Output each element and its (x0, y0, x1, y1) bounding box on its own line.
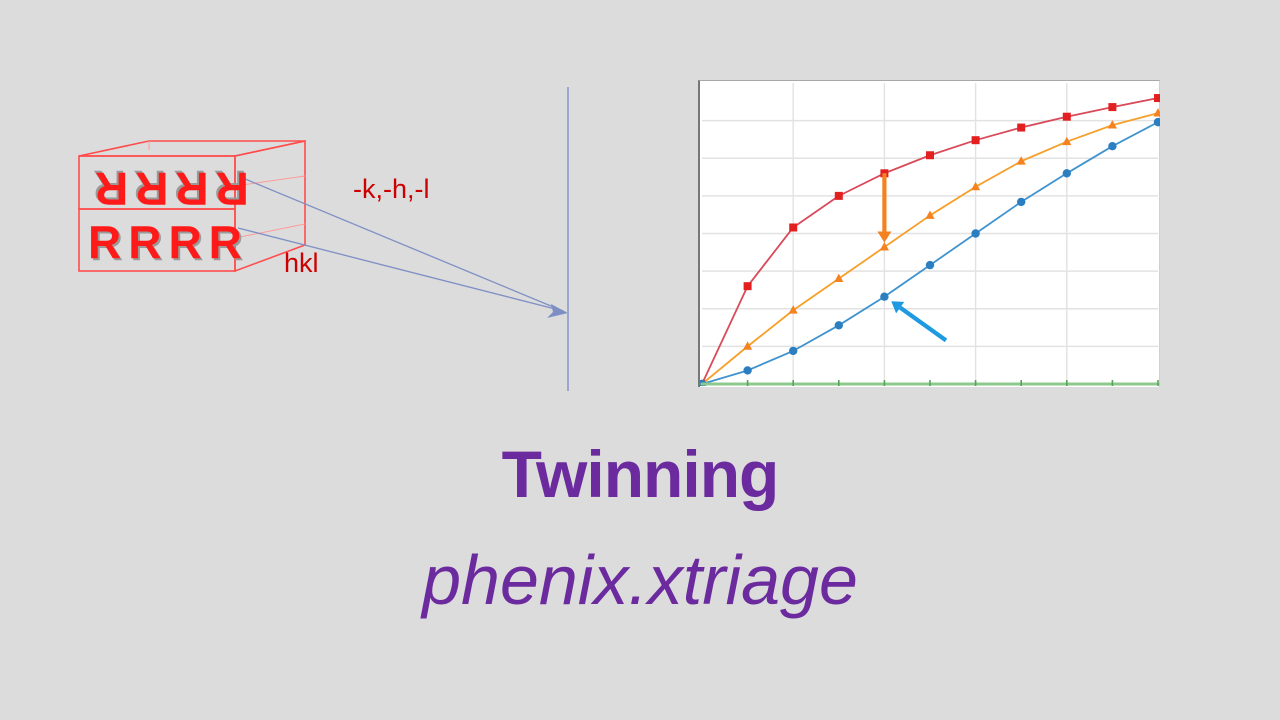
marker-partially-twinned-3 (834, 274, 843, 282)
marker-perfectly-twinned-9 (1108, 142, 1116, 150)
cumulative-intensity-chart (698, 80, 1160, 387)
marker-perfectly-twinned-8 (1063, 169, 1071, 177)
marker-perfectly-twinned-3 (835, 321, 843, 329)
lattice-row-bottom: RRRR (88, 219, 249, 265)
marker-untwinned-7 (1017, 124, 1025, 132)
label-twin-index: -k,-h,-l (353, 174, 430, 205)
marker-perfectly-twinned-10 (1154, 118, 1160, 126)
marker-partially-twinned-10 (1153, 108, 1160, 116)
marker-untwinned-1 (744, 282, 752, 290)
marker-partially-twinned-2 (789, 305, 798, 313)
chart-annotations-layer (877, 173, 946, 340)
series-line-perfectly-twinned (702, 122, 1158, 384)
marker-untwinned-10 (1154, 94, 1160, 102)
marker-perfectly-twinned-4 (880, 293, 888, 301)
marker-perfectly-twinned-2 (789, 347, 797, 355)
chart-series-layer (700, 94, 1160, 386)
marker-untwinned-6 (972, 136, 980, 144)
chart-gridlines (702, 83, 1158, 384)
orange-down-arrow-head (877, 232, 891, 243)
marker-perfectly-twinned-7 (1017, 198, 1025, 206)
series-line-untwinned (702, 98, 1158, 384)
marker-untwinned-2 (789, 223, 797, 231)
slide-root: RRRR RRRR -k,-h,-l hkl Twinning phenix.x… (0, 0, 1280, 720)
marker-partially-twinned-1 (743, 341, 752, 349)
marker-partially-twinned-5 (925, 210, 934, 218)
marker-untwinned-5 (926, 151, 934, 159)
marker-untwinned-3 (835, 192, 843, 200)
page-subtitle: phenix.xtriage (0, 540, 1280, 620)
marker-perfectly-twinned-6 (971, 229, 979, 237)
label-original-index: hkl (284, 248, 319, 279)
twin-crystal-diagram: RRRR RRRR -k,-h,-l hkl (0, 0, 660, 420)
marker-untwinned-8 (1063, 113, 1071, 121)
page-title: Twinning (0, 436, 1280, 512)
marker-partially-twinned-4 (880, 242, 889, 250)
marker-untwinned-9 (1108, 103, 1116, 111)
blue-up-left-arrow-shaft (900, 308, 946, 341)
marker-perfectly-twinned-1 (743, 366, 751, 374)
chart-svg (700, 81, 1160, 386)
marker-perfectly-twinned-5 (926, 261, 934, 269)
lattice-row-top-rotated: RRRR (88, 166, 249, 212)
